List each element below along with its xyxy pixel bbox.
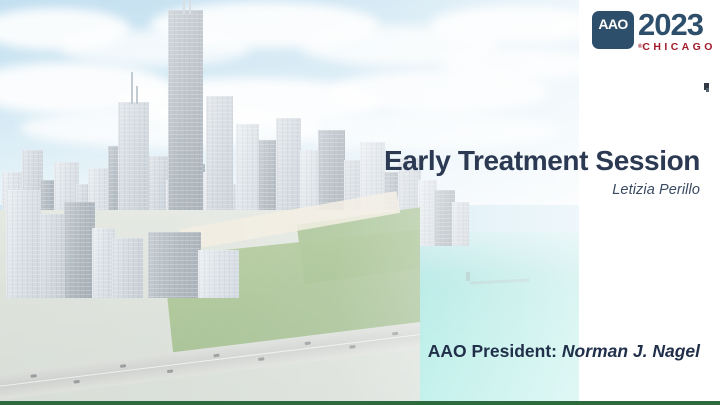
tower-antenna: [131, 72, 133, 104]
speaker-name: Letizia Perillo: [0, 181, 700, 199]
car: [120, 364, 126, 368]
title-block: Early Treatment Session Letizia Perillo: [0, 144, 700, 199]
tall-tower: [452, 202, 469, 246]
aao-logo-mark: AAO: [592, 11, 634, 49]
tower-antenna: [183, 0, 185, 14]
logo-city-text: ®CHICAGO: [638, 41, 716, 53]
president-label: AAO President:: [428, 341, 562, 361]
building: [6, 190, 41, 298]
logo-city-label: CHICAGO: [642, 41, 715, 53]
president-line: AAO President: Norman J. Nagel: [0, 340, 700, 362]
tower-antenna: [189, 0, 191, 14]
cloud: [440, 48, 579, 82]
logo-year-text: 2023: [638, 8, 703, 41]
car: [392, 332, 398, 336]
office-block: [148, 232, 201, 298]
aao-swoosh-icon: [595, 26, 634, 49]
building: [40, 214, 67, 298]
presentation-slide: AAO 2023 ®CHICAGO Early Treatment Sessio…: [0, 0, 720, 405]
aao-2023-chicago-logo: AAO 2023 ®CHICAGO: [592, 8, 712, 54]
image-artifact: [706, 88, 709, 92]
president-name: Norman J. Nagel: [562, 341, 700, 361]
bottom-green-rule: [0, 401, 720, 405]
buoy: [466, 272, 470, 281]
car: [30, 374, 36, 378]
building: [198, 250, 239, 298]
car: [74, 380, 80, 384]
building: [112, 238, 143, 298]
building: [64, 202, 95, 298]
car: [167, 369, 173, 373]
tower-antenna: [136, 86, 138, 104]
session-title: Early Treatment Session: [0, 144, 700, 178]
